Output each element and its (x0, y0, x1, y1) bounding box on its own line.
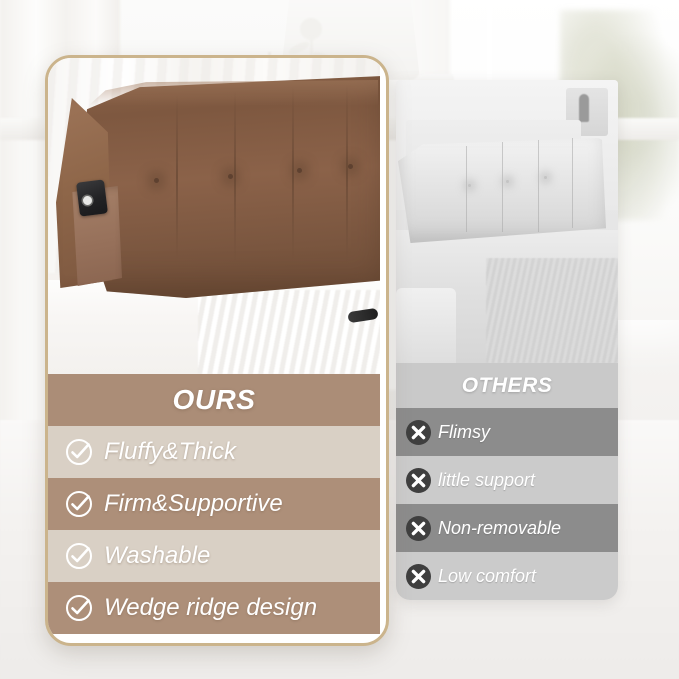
others-row-0: Flimsy (396, 408, 618, 456)
check-circle-icon (64, 593, 94, 623)
others-pillow-seam (502, 142, 503, 232)
others-header-row: OTHERS (396, 363, 618, 408)
ours-row-label: Fluffy&Thick (104, 438, 236, 466)
others-feature-table: OTHERS Flimsy little support (396, 363, 618, 600)
ours-row-0: Fluffy&Thick (48, 426, 380, 478)
others-product-photo (396, 80, 618, 363)
others-comparison-card: OTHERS Flimsy little support (396, 80, 618, 600)
others-photo-throw-blanket (486, 258, 618, 363)
ours-row-label: Washable (104, 542, 210, 570)
pillow-seam (292, 86, 294, 262)
ours-row-2: Washable (48, 530, 380, 582)
pillow-tuft-button (228, 174, 233, 179)
pillow-tuft-button (297, 168, 302, 173)
ours-feature-table: OURS Fluffy&Thick Firm (48, 374, 380, 634)
others-pillow-seam (572, 138, 573, 228)
others-photo-figurine (579, 94, 589, 122)
others-row-label: Flimsy (438, 422, 490, 443)
others-row-1: little support (396, 456, 618, 504)
others-header-label: OTHERS (462, 374, 553, 398)
photo-duvet (198, 290, 380, 374)
pillow-seam (176, 94, 178, 260)
check-circle-icon (64, 437, 94, 467)
check-circle-icon (64, 541, 94, 571)
ours-header-row: OURS (48, 374, 380, 426)
ours-product-photo (48, 58, 380, 374)
others-row-2: Non-removable (396, 504, 618, 552)
comparison-infographic: OTHERS Flimsy little support (0, 0, 679, 679)
others-pillow-tuft (506, 180, 509, 183)
ours-header-label: OURS (173, 384, 256, 416)
others-row-3: Low comfort (396, 552, 618, 600)
x-circle-icon (406, 468, 431, 493)
others-row-label: Low comfort (438, 566, 536, 587)
pillow-seam (234, 90, 236, 262)
pillow-tuft-button (154, 178, 159, 183)
others-pillow-seam (466, 146, 467, 232)
phone-in-pocket (76, 179, 108, 216)
others-pillow-seam (538, 140, 539, 232)
x-circle-icon (406, 516, 431, 541)
others-photo-nightstand (396, 288, 456, 363)
ours-row-label: Wedge ridge design (104, 594, 317, 622)
check-circle-icon (64, 489, 94, 519)
others-pillow-tuft (544, 176, 547, 179)
ours-comparison-card: OURS Fluffy&Thick Firm (45, 55, 389, 646)
ours-row-label: Firm&Supportive (104, 490, 283, 518)
others-pillow-tuft (468, 184, 471, 187)
x-circle-icon (406, 564, 431, 589)
pillow-tuft-button (348, 164, 353, 169)
others-row-label: little support (438, 470, 535, 491)
x-circle-icon (406, 420, 431, 445)
ours-row-1: Firm&Supportive (48, 478, 380, 530)
pillow-seam (346, 84, 348, 262)
others-row-label: Non-removable (438, 518, 561, 539)
ours-row-3: Wedge ridge design (48, 582, 380, 634)
